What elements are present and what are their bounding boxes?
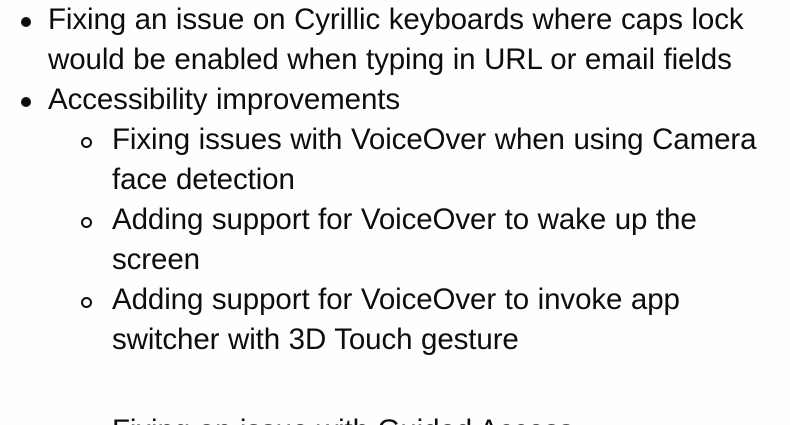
- release-notes-list: Fixing an issue on Cyrillic keyboards wh…: [0, 0, 790, 360]
- release-notes-page: Fixing an issue on Cyrillic keyboards wh…: [0, 0, 790, 425]
- list-item-text: Adding support for VoiceOver to invoke a…: [112, 280, 782, 360]
- hollow-circle-bullet-icon: [81, 137, 92, 148]
- list-item-text: Accessibility improvements: [48, 80, 748, 120]
- hollow-circle-bullet-icon: [81, 217, 92, 228]
- list-item: Accessibility improvements: [0, 80, 790, 120]
- list-item: Adding support for VoiceOver to wake up …: [0, 200, 790, 280]
- list-item: Fixing issues with VoiceOver when using …: [0, 120, 790, 200]
- list-item: Fixing an issue on Cyrillic keyboards wh…: [0, 0, 790, 80]
- list-item-text: Adding support for VoiceOver to wake up …: [112, 200, 782, 280]
- list-item: Adding support for VoiceOver to invoke a…: [0, 280, 790, 360]
- accessibility-sublist: Fixing issues with VoiceOver when using …: [0, 120, 790, 360]
- filled-disc-bullet-icon: [21, 97, 31, 107]
- list-item-text: Fixing an issue on Cyrillic keyboards wh…: [48, 0, 748, 80]
- hollow-circle-bullet-icon: [81, 297, 92, 308]
- clipped-list-item: Fixing an issue with Guided Access: [0, 411, 790, 425]
- filled-disc-bullet-icon: [21, 17, 31, 27]
- clipped-list-item-text: Fixing an issue with Guided Access: [112, 414, 574, 425]
- list-item-text: Fixing issues with VoiceOver when using …: [112, 120, 782, 200]
